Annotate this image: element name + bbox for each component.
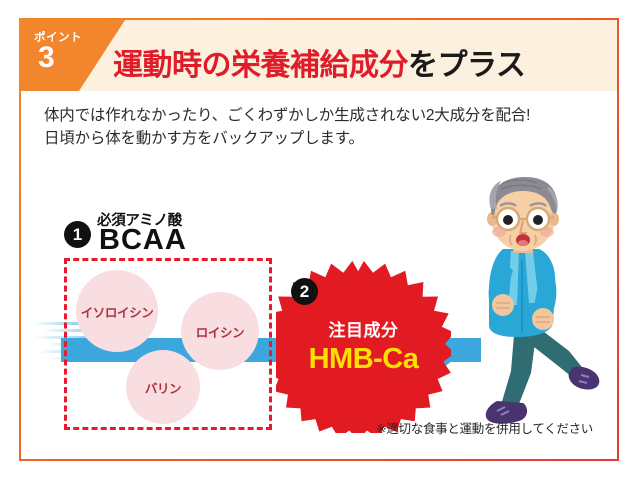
amino-circle-isoleucine: イソロイシン bbox=[76, 270, 158, 352]
point-tag: ポイント 3 bbox=[21, 20, 125, 91]
bcaa-title: BCAA bbox=[99, 224, 187, 257]
amino-label: ロイシン bbox=[196, 322, 244, 341]
bcaa-heading-group: 1 必須アミノ酸 BCAA bbox=[64, 208, 294, 258]
amino-label: バリン bbox=[145, 378, 181, 397]
poster-frame: ポイント 3 運動時の栄養補給成分をプラス 体内では作れなかったり、ごくわずかし… bbox=[19, 18, 619, 461]
walking-man-icon bbox=[461, 175, 606, 440]
walking-senior-illustration bbox=[461, 175, 606, 440]
amino-label: イソロイシン bbox=[81, 302, 154, 321]
page-title-rest: をプラス bbox=[408, 49, 525, 82]
amino-circle-valine: バリン bbox=[126, 350, 200, 424]
number-badge-two: 2 bbox=[291, 278, 318, 305]
page-title: 運動時の栄養補給成分をプラス bbox=[113, 40, 525, 84]
footnote-text: ※適切な食事と運動を併用してください bbox=[376, 418, 593, 437]
page-title-highlight: 運動時の栄養補給成分 bbox=[113, 49, 408, 82]
lead-paragraph: 体内では作れなかったり、ごくわずかしか生成されない2大成分を配合! 日頃から体を… bbox=[44, 104, 530, 150]
amino-circle-leucine: ロイシン bbox=[181, 292, 259, 370]
number-badge-one: 1 bbox=[64, 221, 91, 248]
point-tag-number: 3 bbox=[38, 43, 55, 73]
